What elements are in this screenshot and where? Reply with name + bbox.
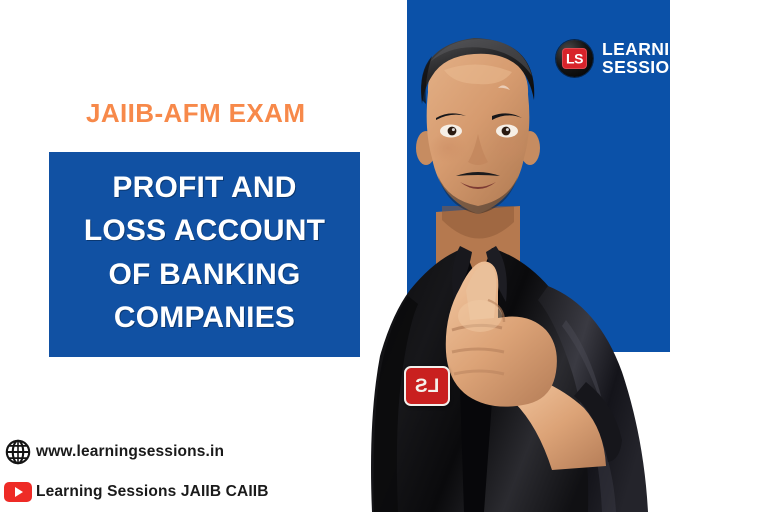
globe-icon	[0, 439, 36, 465]
exam-label: JAIIB-AFM EXAM	[86, 98, 305, 129]
brand-name-line-2: SESSIONS	[602, 59, 697, 77]
brand-lockup: LS LEARNING SESSIONS	[556, 40, 697, 77]
ls-monogram-text: LS	[566, 51, 583, 65]
footer-contact-block: www.learningsessions.in Learning Session…	[0, 432, 340, 512]
youtube-channel-text: Learning Sessions JAIIB CAIIB	[36, 483, 269, 501]
play-triangle-icon	[15, 487, 23, 497]
website-url-text: www.learningsessions.in	[36, 443, 224, 461]
chest-logo-badge: LS	[404, 366, 450, 406]
youtube-badge	[4, 482, 32, 502]
headline-line: LOSS ACCOUNT	[84, 209, 325, 252]
youtube-icon	[0, 482, 36, 502]
ls-monogram-circle-icon: LS	[556, 40, 593, 77]
headline-line: PROFIT AND	[112, 166, 296, 209]
headline-line: COMPANIES	[114, 296, 295, 339]
ls-monogram-tile: LS	[562, 48, 587, 69]
headline-card: PROFIT AND LOSS ACCOUNT OF BANKING COMPA…	[49, 152, 360, 357]
chest-logo-text: LS	[415, 377, 439, 396]
headline-line: OF BANKING	[109, 253, 301, 296]
footer-row-youtube[interactable]: Learning Sessions JAIIB CAIIB	[0, 472, 340, 512]
footer-row-website[interactable]: www.learningsessions.in	[0, 432, 340, 472]
brand-wordmark: LEARNING SESSIONS	[602, 41, 697, 77]
brand-name-line-1: LEARNING	[602, 41, 697, 59]
thumbnail-canvas: LS LS LEARNING SESSIONS JAIIB-AFM EXAM P…	[0, 0, 768, 512]
